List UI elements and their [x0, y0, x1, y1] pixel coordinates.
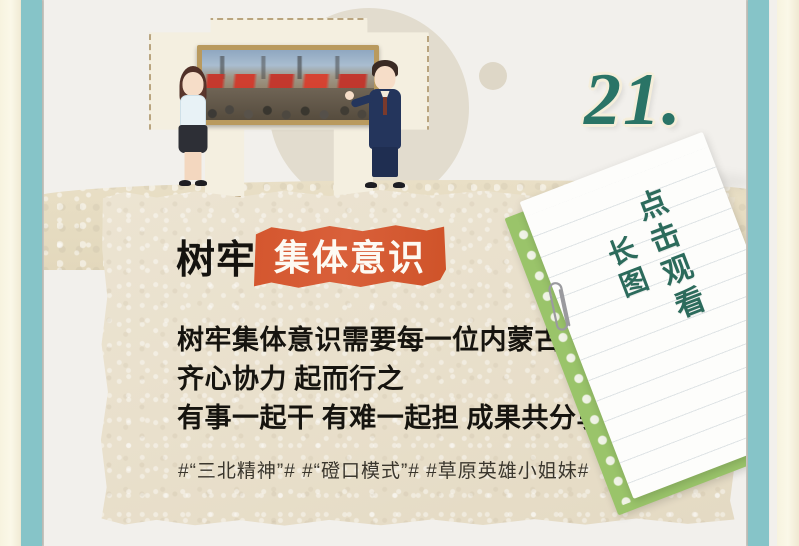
historical-painting-icon: [197, 45, 379, 125]
man-presenter-figure: [361, 51, 409, 188]
woman-legs: [185, 152, 202, 180]
headline-brush-text: 集体意识: [274, 237, 426, 278]
man-shoe-right: [393, 182, 405, 188]
right-divider-line: [746, 0, 748, 546]
decorative-circle-small: [479, 62, 507, 90]
right-cream-border: [777, 0, 799, 546]
woman-shirt: [180, 95, 206, 127]
poster-scene: 21.: [44, 0, 746, 546]
left-cream-border: [0, 0, 22, 546]
man-suit: [369, 89, 401, 149]
man-shoe-left: [365, 182, 377, 188]
woman-shoe-right: [195, 180, 207, 186]
body-line-3: 有事一起干 有难一起担 成果共分享!: [177, 399, 614, 438]
right-teal-border: [748, 0, 769, 546]
woman-presenter-figure: [171, 58, 215, 186]
man-legs: [372, 147, 398, 177]
headline-brush-highlight: 集体意识: [252, 224, 446, 289]
headline-group: 树牢 集体意识: [176, 224, 446, 289]
woman-skirt: [179, 125, 208, 153]
body-line-2: 齐心协力 起而行之: [177, 360, 614, 399]
headline-kicker: 树牢: [176, 229, 256, 285]
page-number: 21.: [584, 58, 683, 143]
hashtag-line: #“三北精神”# #“磴口模式”# #草原英雄小姐妹#: [178, 456, 589, 483]
left-teal-border: [21, 0, 42, 546]
poster-canvas: 21.: [0, 0, 799, 546]
woman-shoe-left: [179, 180, 191, 186]
woman-head: [183, 72, 204, 96]
body-text-block: 树牢集体意识需要每一位内蒙古人 齐心协力 起而行之 有事一起干 有难一起担 成果…: [177, 321, 614, 438]
illustration-sticker: [149, 18, 429, 198]
man-head: [375, 66, 396, 90]
man-hand: [345, 91, 354, 100]
